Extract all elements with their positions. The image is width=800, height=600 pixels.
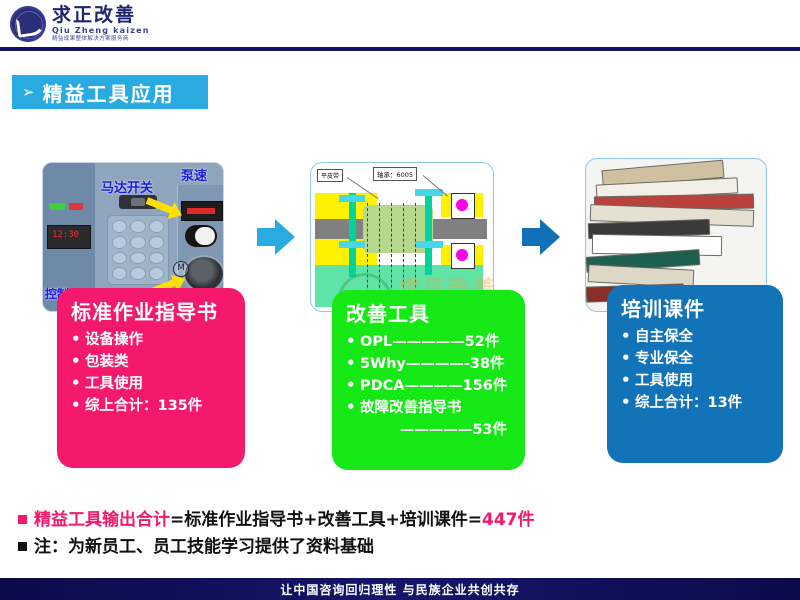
card-training-material: 培训课件 自主保全 专业保全 工具使用 综上合计：13件 bbox=[607, 285, 783, 463]
label-bearing: 轴承：6005 bbox=[373, 167, 417, 181]
keypad-key bbox=[112, 267, 127, 280]
bullet-square-icon bbox=[18, 542, 27, 551]
keypad-key bbox=[130, 252, 145, 265]
diagram-dashed-line bbox=[391, 203, 392, 303]
summary-label: 精益工具输出合计 bbox=[34, 510, 170, 530]
flow-arrow-1-icon bbox=[257, 219, 301, 255]
header-divider bbox=[0, 47, 800, 51]
note-text: 注：为新员工、员工技能学习提供了资料基础 bbox=[34, 537, 374, 557]
card-title: 改善工具 bbox=[346, 298, 513, 327]
summary-formula: =标准作业指导书+改善工具+培训课件= bbox=[170, 510, 482, 530]
keypad-key bbox=[112, 236, 127, 249]
flow-arrow-2-icon bbox=[522, 219, 566, 255]
diagram-post bbox=[425, 189, 432, 275]
keypad-key bbox=[112, 252, 127, 265]
diagram-bearing-dot bbox=[456, 199, 468, 211]
keypad-key bbox=[130, 267, 145, 280]
logo-title-cn: 求正改善 bbox=[52, 6, 150, 25]
panel-red-bar bbox=[69, 203, 83, 210]
section-title-bar: ➢ 精益工具应用 bbox=[12, 75, 208, 109]
label-flat-belt: 平皮带 bbox=[317, 169, 343, 182]
summary-total-value: 447件 bbox=[482, 510, 535, 530]
keypad-key bbox=[149, 252, 164, 265]
list-item: 自主保全 bbox=[619, 326, 771, 348]
arrow-head bbox=[540, 219, 560, 255]
diagram-dashed-line bbox=[403, 203, 404, 303]
list-item: 综上合计：13件 bbox=[619, 392, 771, 414]
panel-oval-switch bbox=[185, 225, 217, 247]
diagram-dashed-line bbox=[415, 203, 416, 303]
list-item: 综上合计：135件 bbox=[69, 395, 233, 417]
panel-keypad bbox=[107, 215, 169, 285]
summary-line-total: 精益工具输出合计=标准作业指导书+改善工具+培训课件=447件 bbox=[18, 505, 534, 530]
keypad-key bbox=[149, 236, 164, 249]
card-standard-work: 标准作业指导书 设备操作 包装类 工具使用 综上合计：135件 bbox=[57, 288, 245, 468]
panel-digital-display bbox=[47, 225, 91, 249]
keypad-key bbox=[130, 236, 145, 249]
keypad-key bbox=[112, 220, 127, 233]
logo-text: 求正改善 Qiu Zheng kaizen 精益成果整体解决方案服务商 bbox=[52, 6, 150, 43]
list-item: 5Why————-38件 bbox=[344, 353, 513, 375]
list-item: OPL—————52件 bbox=[344, 331, 513, 353]
callout-arrow-icon bbox=[146, 197, 175, 214]
list-item: 工具使用 bbox=[69, 373, 233, 395]
list-item: 故障改善指导书 bbox=[344, 397, 513, 419]
list-item: 工具使用 bbox=[619, 370, 771, 392]
diagram-bearing-dot bbox=[456, 249, 468, 261]
diagram-cap bbox=[339, 195, 365, 202]
card-list: OPL—————52件 5Why————-38件 PDCA————156件 故障… bbox=[344, 331, 513, 441]
bullet-arrow-icon: ➢ bbox=[22, 85, 35, 100]
bullet-square-icon bbox=[18, 515, 27, 524]
label-pump-speed: 泵速 bbox=[181, 165, 207, 184]
card-title: 培训课件 bbox=[621, 293, 771, 322]
slide-canvas: 求正改善 Qiu Zheng kaizen 精益成果整体解决方案服务商 ➢ 精益… bbox=[0, 0, 800, 600]
panel-red-readout bbox=[181, 201, 223, 221]
keypad-key bbox=[149, 220, 164, 233]
company-logo: 求正改善 Qiu Zheng kaizen 精益成果整体解决方案服务商 bbox=[10, 4, 250, 44]
list-item: 包装类 bbox=[69, 351, 233, 373]
logo-tagline: 精益成果整体解决方案服务商 bbox=[52, 37, 150, 43]
arrow-head bbox=[275, 219, 295, 255]
card-kaizen-tools: 改善工具 OPL—————52件 5Why————-38件 PDCA————15… bbox=[332, 290, 525, 470]
footer-slogan: 让中国咨询回归理性 与民族企业共创共存 bbox=[280, 581, 519, 598]
diagram-dashed-line bbox=[379, 203, 380, 303]
keypad-key bbox=[149, 267, 164, 280]
arrow-shaft bbox=[257, 228, 277, 246]
list-item: 设备操作 bbox=[69, 329, 233, 351]
card-list: 设备操作 包装类 工具使用 综上合计：135件 bbox=[69, 329, 233, 417]
list-item-continuation: —————53件 bbox=[344, 419, 513, 441]
arrow-shaft bbox=[522, 228, 542, 246]
logo-mark-icon bbox=[10, 6, 46, 42]
panel-green-led bbox=[49, 203, 65, 210]
diagram-post bbox=[349, 193, 356, 277]
summary-line-note: 注：为新员工、员工技能学习提供了资料基础 bbox=[18, 532, 374, 557]
list-item: 专业保全 bbox=[619, 348, 771, 370]
footer-bar: 让中国咨询回归理性 与民族企业共创共存 bbox=[0, 578, 800, 600]
card-title: 标准作业指导书 bbox=[71, 296, 233, 325]
page-title: 精益工具应用 bbox=[43, 78, 175, 107]
diagram-cap bbox=[415, 241, 443, 248]
label-motor-switch: 马达开关 bbox=[101, 177, 153, 196]
card-list: 自主保全 专业保全 工具使用 综上合计：13件 bbox=[619, 326, 771, 414]
list-item: PDCA————156件 bbox=[344, 375, 513, 397]
diagram-cap bbox=[339, 241, 365, 248]
keypad-key bbox=[130, 220, 145, 233]
logo-title-en: Qiu Zheng kaizen bbox=[52, 27, 150, 35]
diagram-dashed-line bbox=[367, 203, 368, 303]
